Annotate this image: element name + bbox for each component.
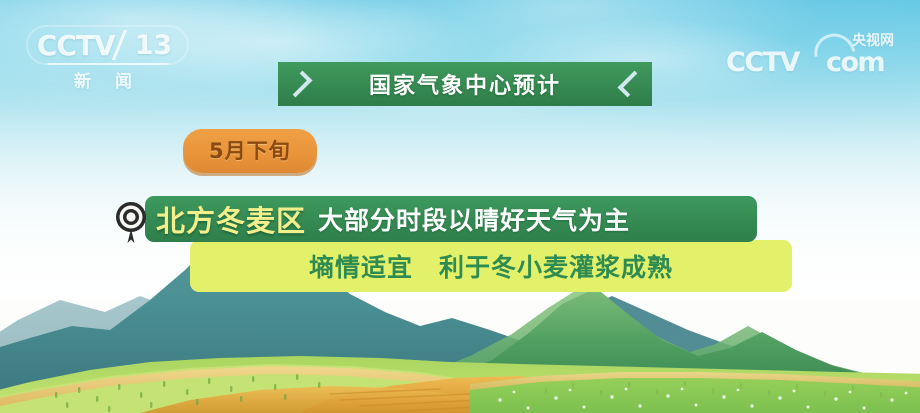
header-banner-title: 国家气象中心预计	[278, 62, 652, 106]
forecast-line2-text: 墒情适宜 利于冬小麦灌浆成熟	[190, 240, 792, 292]
forecast-line1-band: 北方冬麦区 大部分时段以晴好天气为主	[145, 196, 757, 242]
logo-underline	[47, 63, 169, 65]
forecast-region-highlight: 北方冬麦区	[152, 198, 310, 240]
forecast-line2-band: 墒情适宜 利于冬小麦灌浆成熟	[190, 240, 792, 292]
logo-subtitle: 新 闻	[30, 67, 185, 92]
logo-letters: CCTV	[37, 29, 115, 62]
header-banner: 国家气象中心预计	[278, 62, 652, 106]
location-pin-icon	[111, 199, 151, 245]
cctv-13-logo: CCTV 13 新 闻	[30, 28, 185, 90]
logo-channel-number: 13	[135, 30, 179, 61]
cctv-dot-com-watermark: CCTV com 央视网	[726, 32, 896, 80]
date-tag-label: 5月下旬	[209, 139, 291, 163]
watermark-main-text: CCTV	[726, 47, 799, 78]
broadcast-frame: CCTV 13 新 闻 CCTV com 央视网 国家气象中心预计 5月下旬 墒…	[0, 0, 920, 413]
forecast-line1-text: 大部分时段以晴好天气为主	[318, 201, 630, 237]
date-tag: 5月下旬	[183, 129, 317, 173]
watermark-suffix-text: com	[826, 47, 884, 78]
watermark-chinese-text: 央视网	[852, 30, 894, 50]
